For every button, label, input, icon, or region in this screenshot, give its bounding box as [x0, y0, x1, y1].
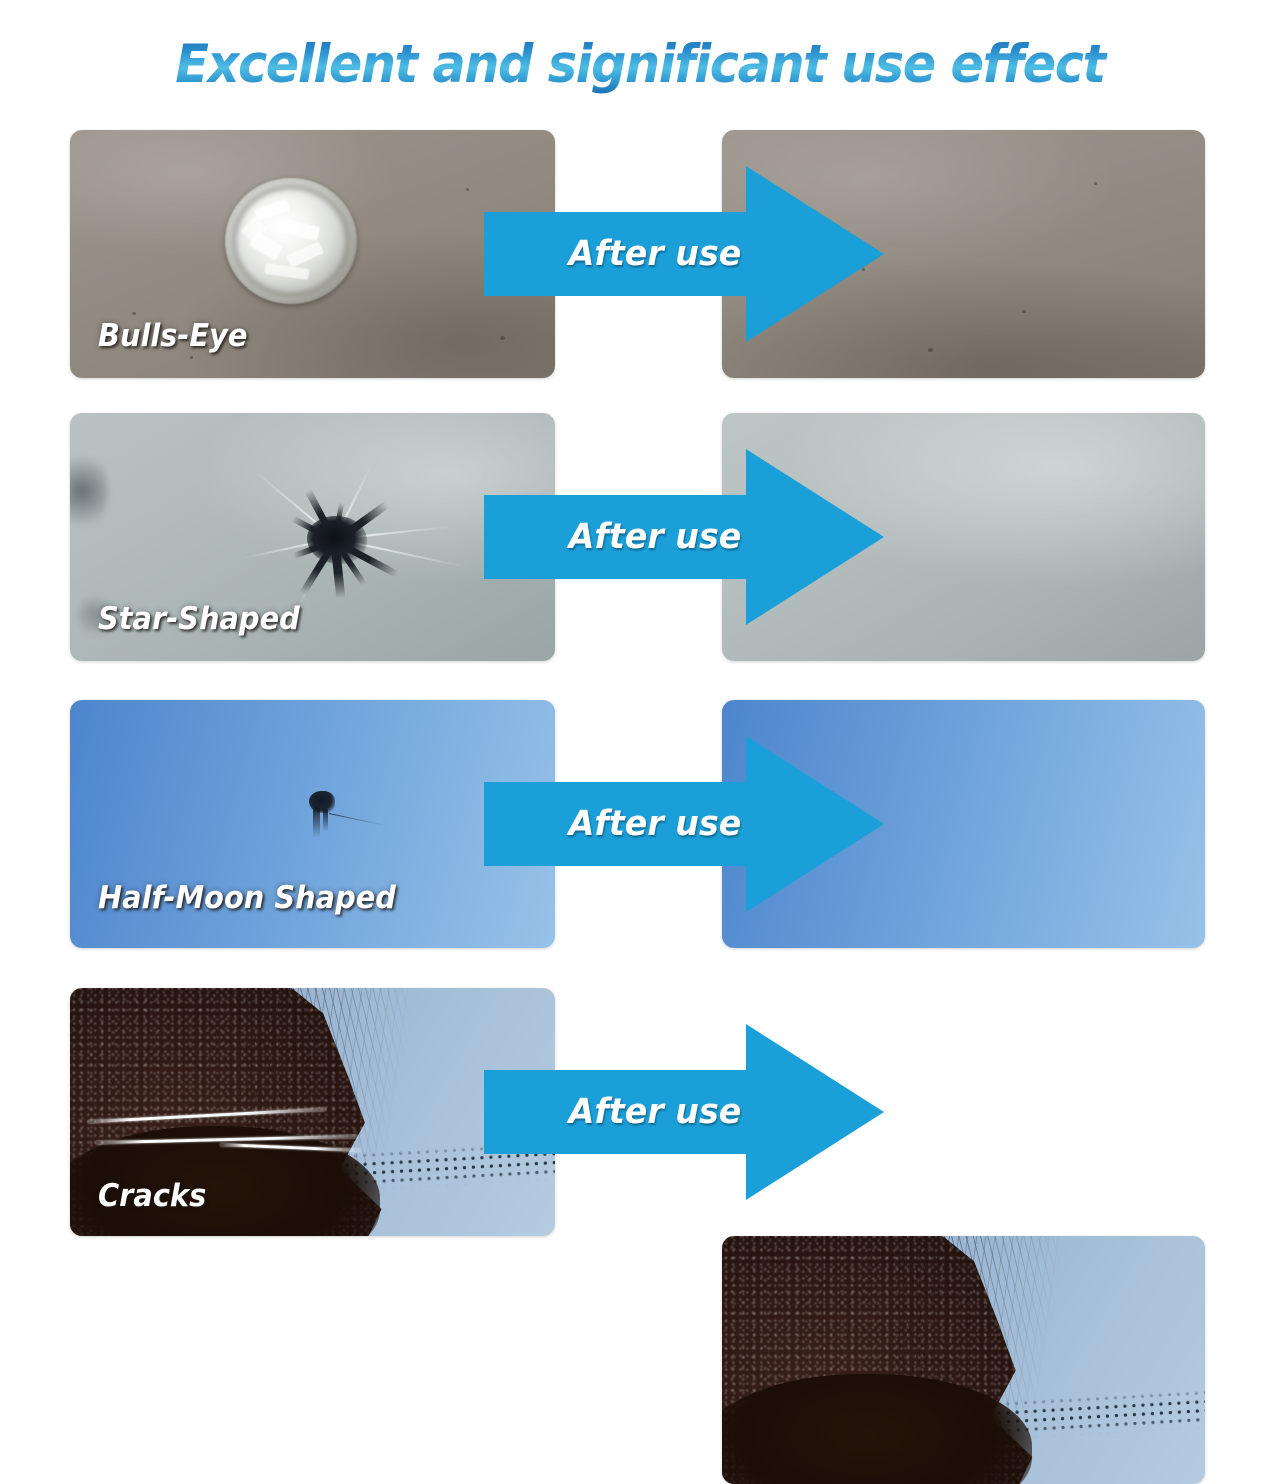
comparison-row-bullseye: Bulls-Eye After use [0, 130, 1280, 378]
before-image-cracks: Cracks [70, 988, 555, 1236]
after-image-star [722, 413, 1205, 661]
before-caption: Half-Moon Shaped [98, 880, 396, 916]
product-infographic: Excellent and significant use effect Bul… [0, 0, 1280, 1280]
before-image-star: Star-Shaped [70, 413, 555, 661]
before-image-bullseye: Bulls-Eye [70, 130, 555, 378]
before-image-halfmoon: Half-Moon Shaped [70, 700, 555, 948]
after-image-cracks [722, 1236, 1205, 1484]
after-image-halfmoon [722, 700, 1205, 948]
comparison-row-halfmoon: Half-Moon Shaped After use [0, 700, 1280, 948]
before-caption: Bulls-Eye [98, 318, 247, 354]
comparison-row-cracks: Cracks After use [0, 988, 1280, 1236]
page-title: Excellent and significant use effect [45, 34, 1235, 95]
comparison-row-star: Star-Shaped After use [0, 413, 1280, 661]
star-crack-icon [220, 453, 450, 623]
before-caption: Star-Shaped [98, 601, 300, 637]
arrow-label: After use [536, 1090, 774, 1134]
half-moon-chip-icon [301, 787, 355, 843]
after-image-bullseye [722, 130, 1205, 378]
bullseye-chip-icon [225, 178, 357, 304]
before-caption: Cracks [98, 1178, 206, 1214]
